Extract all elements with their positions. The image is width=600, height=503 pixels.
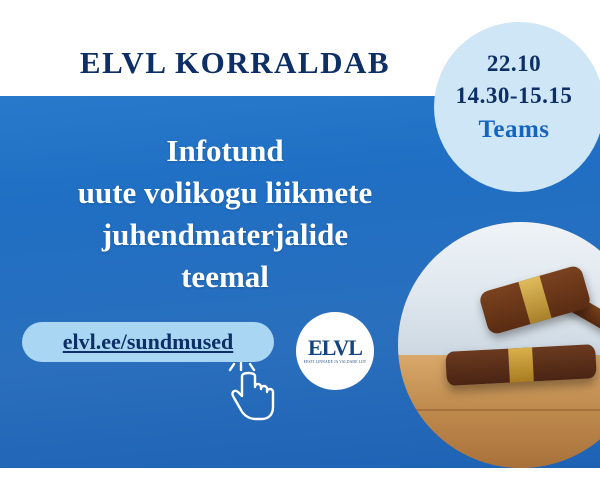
page-title: ELVL KORRALDAB (0, 45, 470, 81)
photo-desk-edge (398, 409, 600, 411)
headline-block: Infotund uute volikogu liikmete juhendma… (10, 130, 440, 298)
headline-line-4: teemal (10, 256, 440, 298)
logo-monogram: ELVL (308, 338, 362, 358)
logo-caption: EESTI LINNADE JA VALDADE LIIT (304, 360, 367, 364)
pointing-hand-icon (228, 362, 280, 422)
event-link-label: elvl.ee/sundmused (63, 329, 234, 355)
elvl-logo: ELVL EESTI LINNADE JA VALDADE LIIT (296, 312, 374, 390)
date-panel-content: 22.10 14.30-15.15 Teams (434, 48, 594, 146)
gavel-gold-ring (518, 276, 551, 324)
headline-line-1: Infotund (10, 130, 440, 172)
poster-canvas: ELVL KORRALDAB 22.10 14.30-15.15 Teams I… (0, 0, 600, 503)
headline-line-3: juhendmaterjalide (10, 214, 440, 256)
sound-block-band (508, 347, 534, 382)
bottom-white-strip (0, 468, 600, 503)
event-date: 22.10 (434, 48, 594, 80)
event-time: 14.30-15.15 (434, 80, 594, 112)
date-panel: 22.10 14.30-15.15 Teams (434, 22, 600, 192)
gavel-photo (398, 222, 600, 468)
headline-line-2: uute volikogu liikmete (10, 172, 440, 214)
event-platform: Teams (434, 114, 594, 146)
event-link-button[interactable]: elvl.ee/sundmused (22, 322, 274, 362)
